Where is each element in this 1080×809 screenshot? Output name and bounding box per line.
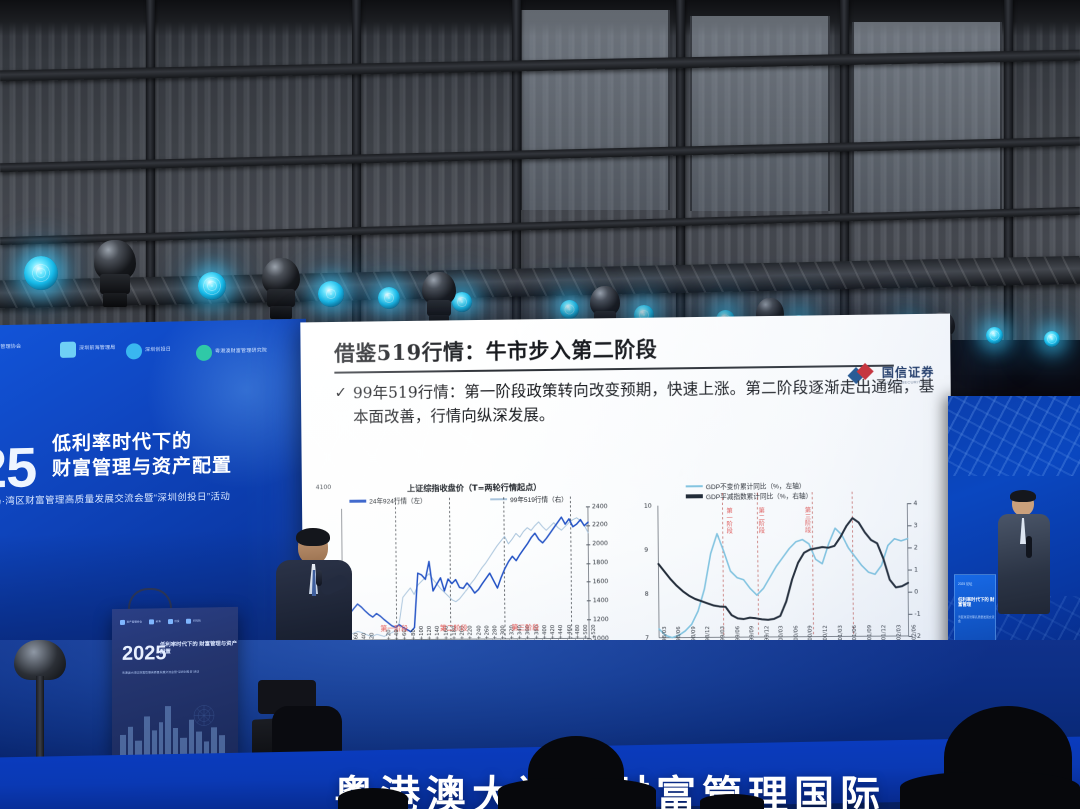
axis-tick xyxy=(908,525,912,526)
right-chart-xtick: 99/06 xyxy=(735,626,741,641)
right-chart-xtick: 00/09 xyxy=(808,625,814,640)
legend-swatch-line xyxy=(490,498,507,501)
axis-tick xyxy=(908,547,912,548)
axis-tick xyxy=(586,525,590,526)
stage-par-light xyxy=(24,256,58,290)
left-chart-legend-item-0: 24年924行情（左） xyxy=(349,495,426,506)
sponsor-logo-4-label: 粤港澳财富管理研究院 xyxy=(215,349,267,356)
right-chart-legend: GDP不变价累计同比（%，左轴） GDP平减指数累计同比（%，右轴） xyxy=(636,479,940,502)
right-chart-right-ytick: 2 xyxy=(914,544,918,551)
sponsor-mark-icon xyxy=(196,345,212,361)
axis-tick xyxy=(586,544,590,545)
left-chart-phase-label: 第二阶段 xyxy=(440,623,468,633)
right-chart-phase-label: 第一阶段 xyxy=(726,509,733,535)
left-chart-legend-label-0: 24年924行情（左） xyxy=(369,495,426,506)
stage-par-light xyxy=(1044,331,1060,347)
audience-silhouette xyxy=(900,772,1080,809)
moving-head-light xyxy=(262,258,300,318)
audience-silhouette xyxy=(498,778,656,809)
right-chart-xtick: 01/06 xyxy=(852,625,858,640)
podium-sponsor-logos: 资产管理协会 前海 创投 研究院 xyxy=(120,616,228,626)
axis-tick xyxy=(586,563,590,564)
right-chart-xtick: 01/03 xyxy=(837,625,843,640)
stage-par-light xyxy=(318,281,344,307)
hall-window-panel xyxy=(852,22,1002,212)
right-chart-xtick: 01/12 xyxy=(882,625,888,640)
stage-par-light xyxy=(560,300,579,319)
podium-subtitle: 粤港澳大湾区财富管理高质量发展交流会暨“深圳创投日”活动 xyxy=(122,669,230,676)
sponsor-logo-2-label: 深圳前海管理局 xyxy=(79,346,115,353)
axis-tick xyxy=(908,592,912,593)
axis-tick xyxy=(907,503,911,504)
led-info-card: 2025 论坛 低利率时代下的 财富管理 湾区财富管理高质量发展交流会 xyxy=(954,574,996,648)
left-chart-ytick: 1800 xyxy=(592,559,608,566)
right-chart-legend-label-1: GDP平减指数累计同比（%，右轴） xyxy=(706,490,812,501)
sponsor-mark-icon xyxy=(60,342,76,358)
right-chart-xtick: 00/03 xyxy=(779,626,785,641)
right-chart-xtick: 02/06 xyxy=(911,625,917,640)
event-podium: 资产管理协会 前海 创投 研究院 2025 低利率时代下的 财富管理与资产配置 … xyxy=(112,607,238,757)
right-chart-phase-label: 第二阶段 xyxy=(758,509,765,535)
speaker-hair xyxy=(296,528,330,546)
right-chart-xtick: 00/12 xyxy=(823,625,829,640)
left-chart-ytick: 2400 xyxy=(592,503,608,510)
right-chart-legend-item-1: GDP平减指数累计同比（%，右轴） xyxy=(686,490,813,501)
legend-swatch-line xyxy=(349,499,366,502)
light-head-icon xyxy=(14,640,66,680)
banner-sponsor-logos: 资产管理协会 深圳前海管理局 深圳创投日 粤港澳财富管理研究院 xyxy=(0,329,306,370)
right-chart-right-ytick: 0 xyxy=(914,588,918,595)
floor-light-fixture xyxy=(14,640,66,758)
moving-head-light xyxy=(94,240,136,306)
right-chart-left-ytick: 10 xyxy=(644,502,652,509)
left-chart-ytick: 1600 xyxy=(593,578,609,585)
hall-window-panel xyxy=(690,16,830,211)
sponsor-logo-2: 深圳前海管理局 xyxy=(60,340,115,359)
light-stand-pole xyxy=(36,676,44,758)
podium-headline: 低利率时代下的 财富管理与资产配置 xyxy=(160,641,238,657)
led-card-line3: 湾区财富管理高质量发展交流会 xyxy=(958,615,995,623)
sponsor-mark-icon xyxy=(126,343,142,359)
axis-tick xyxy=(587,582,591,583)
skyline-graphic-icon xyxy=(116,697,234,757)
right-chart-left-ytick: 8 xyxy=(645,590,649,597)
legend-swatch-line xyxy=(686,485,703,488)
axis-tick xyxy=(908,614,912,615)
podium-logo: 创投 xyxy=(168,618,180,624)
banner-headline: 低利率时代下的 财富管理与资产配置 xyxy=(52,428,232,482)
axis-tick xyxy=(586,506,590,507)
podium-logo: 资产管理协会 xyxy=(120,619,142,625)
banner-headline-line2: 财富管理与资产配置 xyxy=(52,453,232,482)
stage-par-light xyxy=(198,272,226,300)
left-chart-phase-label: 第三阶段 xyxy=(511,623,539,633)
right-chart-phase-label: 第三阶段 xyxy=(804,508,811,534)
audience-silhouette xyxy=(700,794,764,809)
stage-par-light xyxy=(986,327,1003,344)
speaker-video-feed xyxy=(996,492,1052,642)
stage-par-light xyxy=(378,287,400,309)
axis-tick xyxy=(908,570,912,571)
moving-head-light xyxy=(422,272,456,326)
left-chart-phase-label: 第一阶段 xyxy=(380,624,408,634)
slide-bullet: ✓ 99年519行情：第一阶段政策转向改变预期，快速上涨。第二阶段逐渐走出通缩，… xyxy=(334,374,934,429)
slide-title: 借鉴519行情：牛市步入第二阶段 xyxy=(334,334,657,368)
right-chart-xtick: 99/09 xyxy=(749,626,755,641)
left-chart-legend: 24年924行情（左） 99年519行情（右） xyxy=(316,493,634,507)
left-chart-legend-item-1: 99年519行情（右） xyxy=(490,494,568,505)
slide-bullet-text: 99年519行情：第一阶段政策转向改变预期，快速上涨。第二阶段逐渐走出通缩，基本… xyxy=(353,374,935,429)
left-chart-ylabel-top: 4100 xyxy=(316,484,332,491)
led-card-line2: 低利率时代下的 财富管理 xyxy=(958,597,995,608)
led-decor-grid xyxy=(948,396,1080,476)
conference-photo-scene: 资产管理协会 深圳前海管理局 深圳创投日 粤港澳财富管理研究院 25 低利率时代… xyxy=(0,0,1080,809)
legend-swatch-line xyxy=(686,495,703,499)
right-chart-right-ytick: 4 xyxy=(913,500,917,507)
left-chart-ytick: 1400 xyxy=(593,597,609,604)
axis-tick xyxy=(587,619,591,620)
axis-tick xyxy=(587,601,591,602)
right-chart-right-ytick: 3 xyxy=(914,522,918,529)
sponsor-logo-1-label: 资产管理协会 xyxy=(0,345,21,351)
checkmark-icon: ✓ xyxy=(334,381,347,429)
audience-silhouette xyxy=(338,788,408,809)
left-chart-ytick: 1200 xyxy=(593,616,609,623)
left-chart-plot-area xyxy=(342,506,590,640)
right-chart-xtick: 01/09 xyxy=(867,625,873,640)
sponsor-logo-3-label: 深圳创投日 xyxy=(145,348,171,354)
left-chart-ytick: 2200 xyxy=(592,522,608,529)
sponsor-logo-3: 深圳创投日 xyxy=(126,342,171,361)
right-chart-xtick: 02/03 xyxy=(896,625,902,640)
banner-headline-line1: 低利率时代下的 xyxy=(52,428,232,457)
banner-subtitle: 理局·湾区财富管理高质量发展交流会暨“深圳创投日”活动 xyxy=(0,487,306,508)
right-chart-right-ytick: 1 xyxy=(914,566,918,573)
right-chart-right-ytick: -1 xyxy=(914,610,920,617)
sponsor-logo-1: 资产管理协会 xyxy=(0,339,21,358)
led-card-line1: 2025 论坛 xyxy=(958,581,972,586)
left-chart-legend-label-1: 99年519行情（右） xyxy=(510,494,568,505)
right-chart-xtick: 99/12 xyxy=(764,626,770,641)
hall-window-panel xyxy=(520,10,670,210)
podium-logo: 研究院 xyxy=(186,618,200,624)
right-chart-left-ytick: 9 xyxy=(644,546,648,553)
podium-logo: 前海 xyxy=(149,618,161,624)
banner-year: 25 xyxy=(0,434,36,500)
right-chart-plot-area xyxy=(658,503,909,638)
left-chart-ytick: 2000 xyxy=(592,540,608,547)
sponsor-logo-4: 粤港澳财富管理研究院 xyxy=(196,343,267,362)
right-chart-xtick: 00/06 xyxy=(793,625,799,640)
